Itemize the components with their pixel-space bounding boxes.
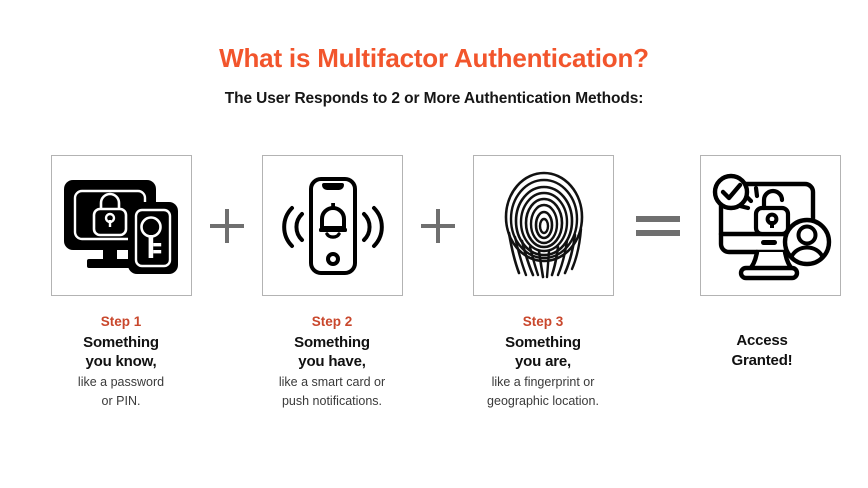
step-sub-line-2b: push notifications. [237,393,427,410]
factor-card-step-1 [51,155,192,296]
step-sub-line-1b: or PIN. [26,393,216,410]
step-label-3: Step 3 [448,313,638,331]
step-main-line-1b: you know, [26,352,216,372]
step-main-line-2a: Something [237,333,427,353]
factor-card-step-3 [473,155,614,296]
result-line-2: Granted! [667,351,857,371]
fingerprint-icon [496,167,592,285]
step-sub-line-3b: geographic location. [448,393,638,410]
plus-operator-1 [198,155,256,296]
equals-operator [622,155,694,296]
page-title: What is Multifactor Authentication? [0,43,868,74]
step-sub-line-2a: like a smart card or [237,374,427,391]
equals-icon [636,216,680,236]
caption-step-1: Step 1 Something you know, like a passwo… [26,313,216,410]
caption-step-2: Step 2 Something you have, like a smart … [237,313,427,410]
step-main-line-3b: you are, [448,352,638,372]
step-main-line-1a: Something [26,333,216,353]
monitor-lock-keycard-icon [62,172,182,280]
factor-row [0,155,868,300]
step-label-2: Step 2 [237,313,427,331]
step-sub-line-3a: like a fingerprint or [448,374,638,391]
smartphone-notification-icon [274,172,392,280]
plus-operator-2 [409,155,467,296]
result-line-1: Access [667,331,857,351]
caption-result: Access Granted! [667,331,857,372]
factor-card-step-2 [262,155,403,296]
step-main-line-3a: Something [448,333,638,353]
plus-icon [421,209,455,243]
monitor-unlocked-user-check-icon [709,170,833,282]
mfa-infographic: What is Multifactor Authentication? The … [0,0,868,488]
step-label-1: Step 1 [26,313,216,331]
plus-icon [210,209,244,243]
result-card-access-granted [700,155,841,296]
page-subtitle: The User Responds to 2 or More Authentic… [0,90,868,108]
step-main-line-2b: you have, [237,352,427,372]
caption-step-3: Step 3 Something you are, like a fingerp… [448,313,638,410]
step-sub-line-1a: like a password [26,374,216,391]
